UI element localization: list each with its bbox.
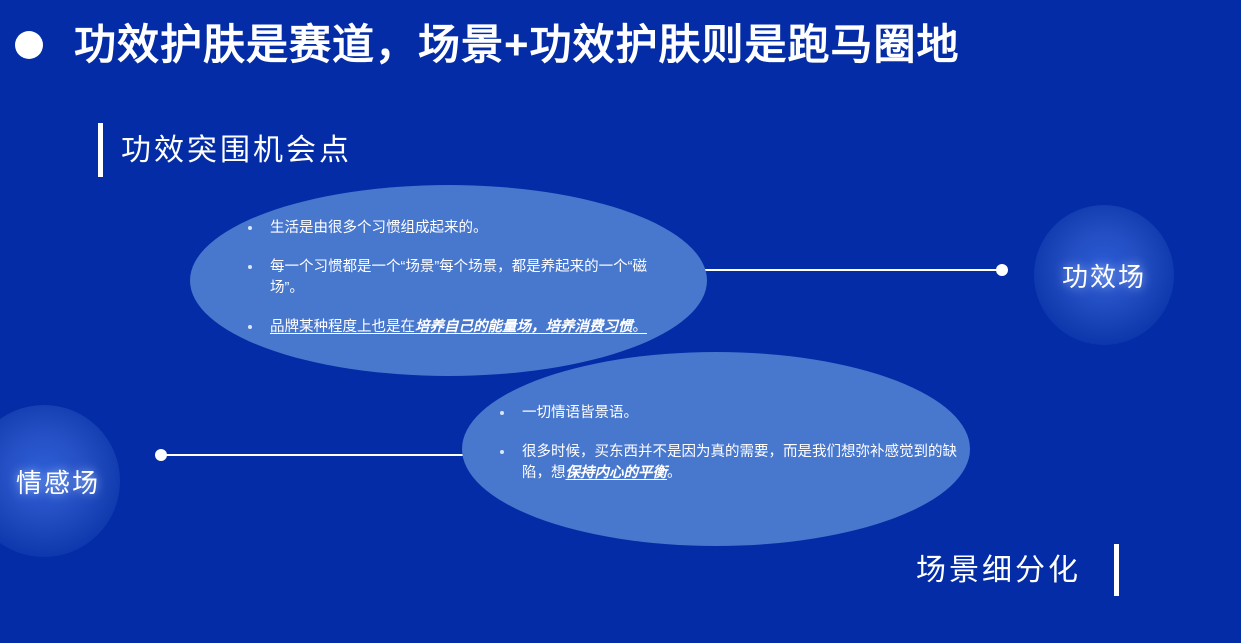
list-item: 很多时候，买东西并不是因为真的需要，而是我们想弥补感觉到的缺陷，想保持内心的平衡… bbox=[492, 442, 962, 484]
footer-label: 场景细分化 bbox=[916, 551, 1081, 591]
connector-line-top bbox=[700, 269, 1000, 271]
slide-canvas: 功效护肤是赛道，场景+功效护肤则是跑马圈地 功效突围机会点 功效场 情感场 生活… bbox=[0, 0, 1241, 643]
bullet-text: 一切情语皆景语。 bbox=[522, 405, 638, 421]
connector-line-bottom bbox=[166, 454, 464, 456]
bullet-text-emphasis: 保持内心的平衡 bbox=[566, 465, 668, 481]
list-item: 品牌某种程度上也是在培养自己的能量场，培养消费习惯。 bbox=[240, 317, 670, 338]
section-label: 功效突围机会点 bbox=[121, 131, 352, 171]
bullet-list-emotion: 一切情语皆景语。 很多时候，买东西并不是因为真的需要，而是我们想弥补感觉到的缺陷… bbox=[492, 403, 962, 484]
sphere-label-qinggan: 情感场 bbox=[16, 463, 100, 500]
title-bullet-icon bbox=[15, 31, 43, 59]
bullet-text-tail: 。 bbox=[633, 319, 648, 335]
bullet-text: 生活是由很多个习惯组成起来的。 bbox=[270, 220, 488, 236]
sphere-label-gongxiao: 功效场 bbox=[1062, 257, 1146, 294]
sphere-gongxiao-chang: 功效场 bbox=[1034, 205, 1174, 345]
bullet-text: 每一个习惯都是一个“场景”每个场景，都是养起来的一个“磁场”。 bbox=[270, 259, 647, 296]
list-item: 一切情语皆景语。 bbox=[492, 403, 962, 424]
sphere-qinggan-chang: 情感场 bbox=[0, 405, 120, 557]
connector-dot-bottom bbox=[155, 449, 167, 461]
bullet-text-tail: 。 bbox=[667, 465, 682, 481]
bullet-text-lead: 品牌某种程度上也是在 bbox=[270, 319, 415, 335]
section-accent-bar bbox=[98, 123, 103, 177]
list-item: 生活是由很多个习惯组成起来的。 bbox=[240, 218, 670, 239]
bullet-text-emphasis: 培养自己的能量场，培养消费习惯 bbox=[415, 319, 633, 335]
list-item: 每一个习惯都是一个“场景”每个场景，都是养起来的一个“磁场”。 bbox=[240, 257, 670, 299]
page-title: 功效护肤是赛道，场景+功效护肤则是跑马圈地 bbox=[74, 14, 960, 76]
bullet-list-habit: 生活是由很多个习惯组成起来的。 每一个习惯都是一个“场景”每个场景，都是养起来的… bbox=[240, 218, 670, 338]
connector-dot-top bbox=[996, 264, 1008, 276]
footer-accent-bar bbox=[1114, 544, 1119, 596]
